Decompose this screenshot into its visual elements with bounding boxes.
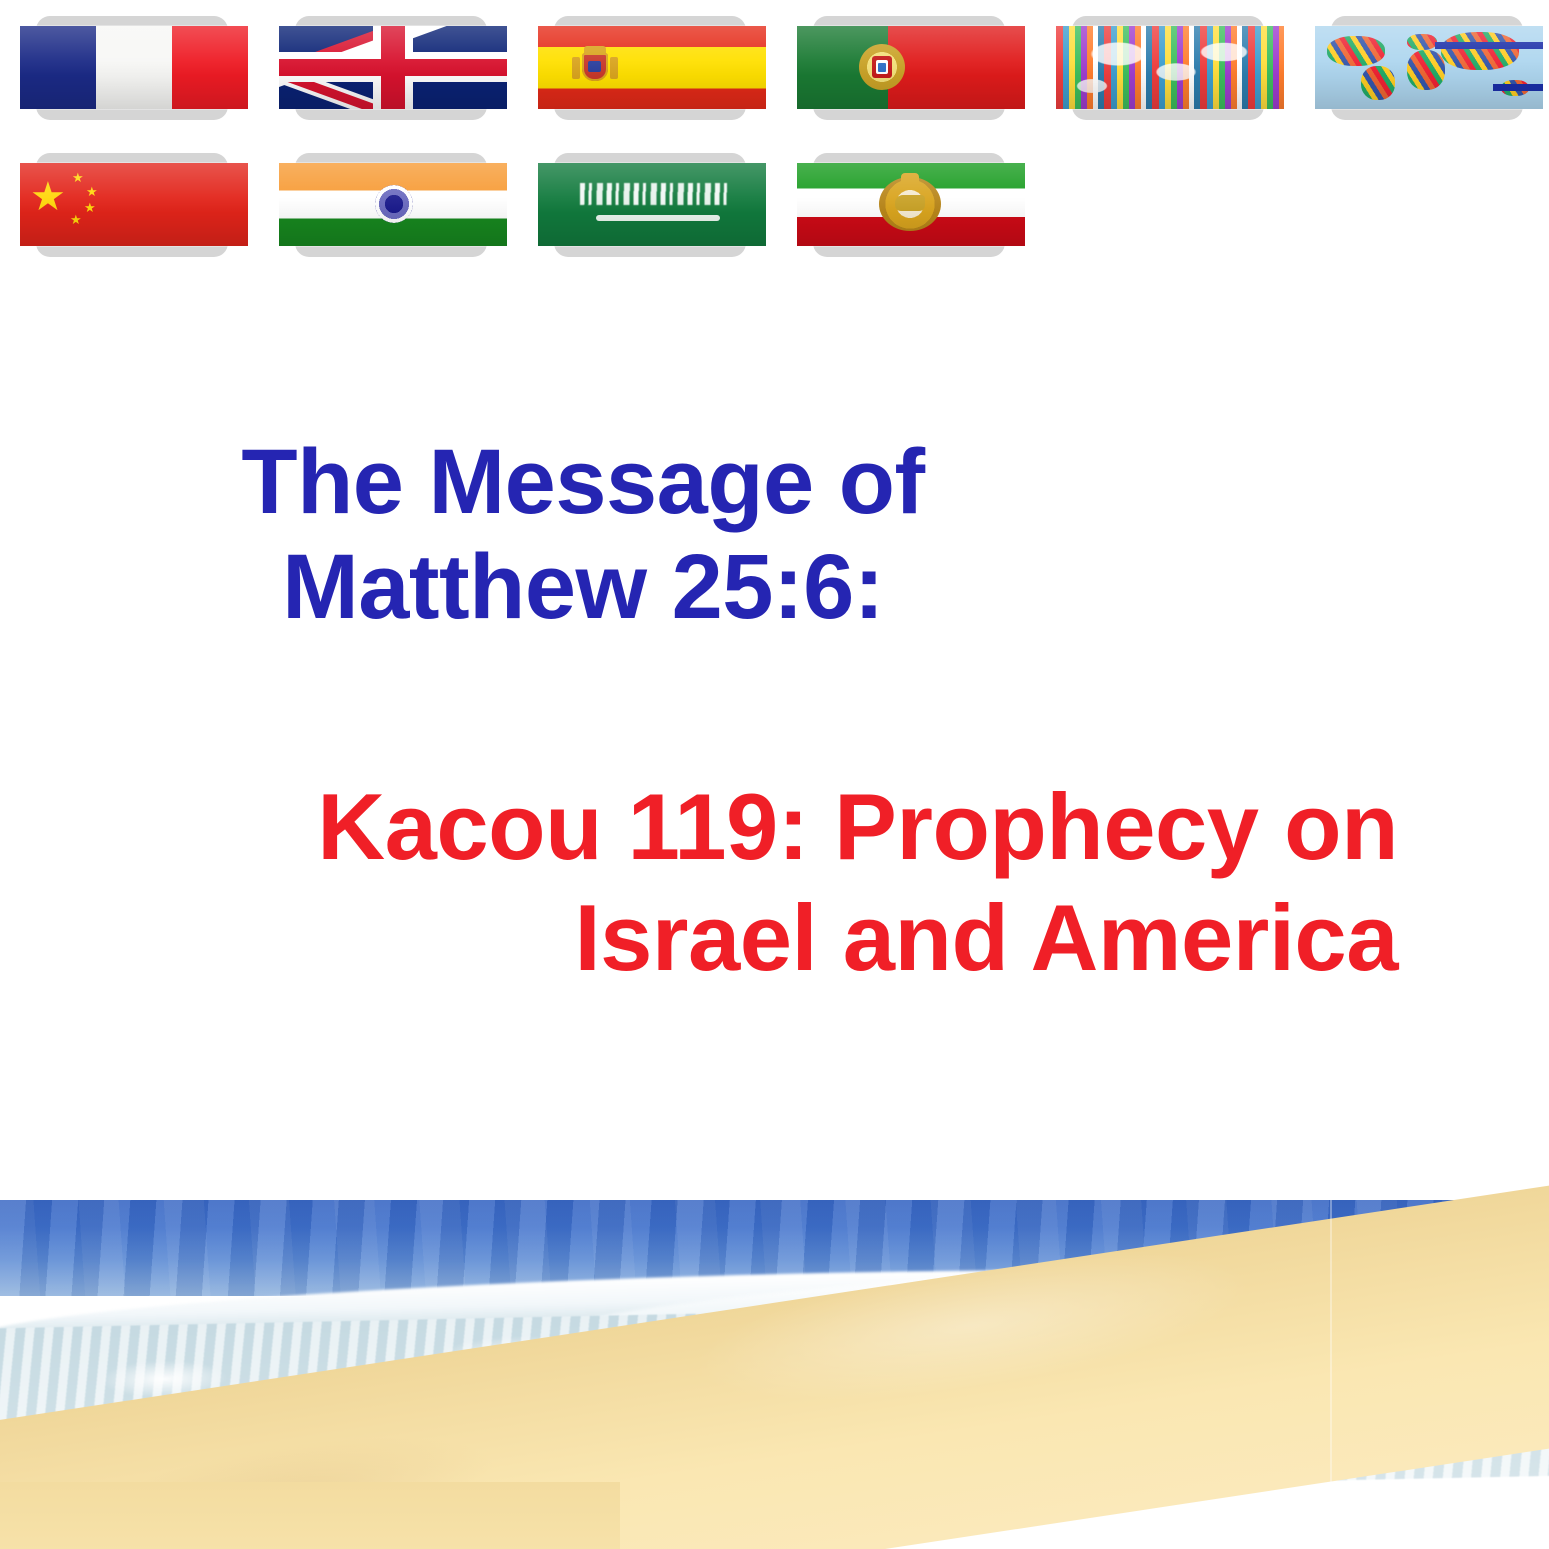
flag-button-united-kingdom[interactable] — [279, 6, 511, 118]
flag-india-icon — [279, 163, 507, 246]
flag-united-kingdom-icon — [279, 26, 507, 109]
flag-button-saudi-arabia[interactable] — [538, 143, 770, 255]
flag-button-world-map[interactable] — [1315, 6, 1547, 118]
world-map-flags-icon — [1315, 26, 1543, 109]
title-spacer — [78, 640, 1408, 772]
flag-button-india[interactable] — [279, 143, 511, 255]
flag-china-icon: ★★ ★★ ★ — [20, 163, 248, 246]
flag-button-china[interactable]: ★★ ★★ ★ — [20, 143, 252, 255]
world-flags-collage-icon — [1056, 26, 1284, 109]
ashoka-chakra-icon — [375, 185, 413, 223]
page-title-subheading: Kacou 119: Prophecy on Israel and Americ… — [78, 772, 1408, 994]
title-block: The Message of Matthew 25:6: Kacou 119: … — [78, 430, 1408, 994]
flag-spain-icon — [538, 26, 766, 109]
flag-button-all-languages[interactable] — [1056, 6, 1288, 118]
beach-ocean-photo — [0, 1182, 1549, 1549]
sand-foreground — [0, 1482, 620, 1549]
photo-seam — [1330, 1182, 1332, 1549]
flag-button-iran[interactable] — [797, 143, 1029, 255]
flag-button-portugal[interactable] — [797, 6, 1029, 118]
page-title-heading: The Message of Matthew 25:6: — [78, 430, 1408, 640]
language-flag-bar: ★★ ★★ ★ — [0, 0, 1549, 285]
flag-button-france[interactable] — [20, 6, 252, 118]
flag-portugal-icon — [797, 26, 1025, 109]
flag-button-spain[interactable] — [538, 6, 770, 118]
flag-france-icon — [20, 26, 248, 109]
flag-saudi-arabia-icon — [538, 163, 766, 246]
flag-iran-icon — [797, 163, 1025, 246]
